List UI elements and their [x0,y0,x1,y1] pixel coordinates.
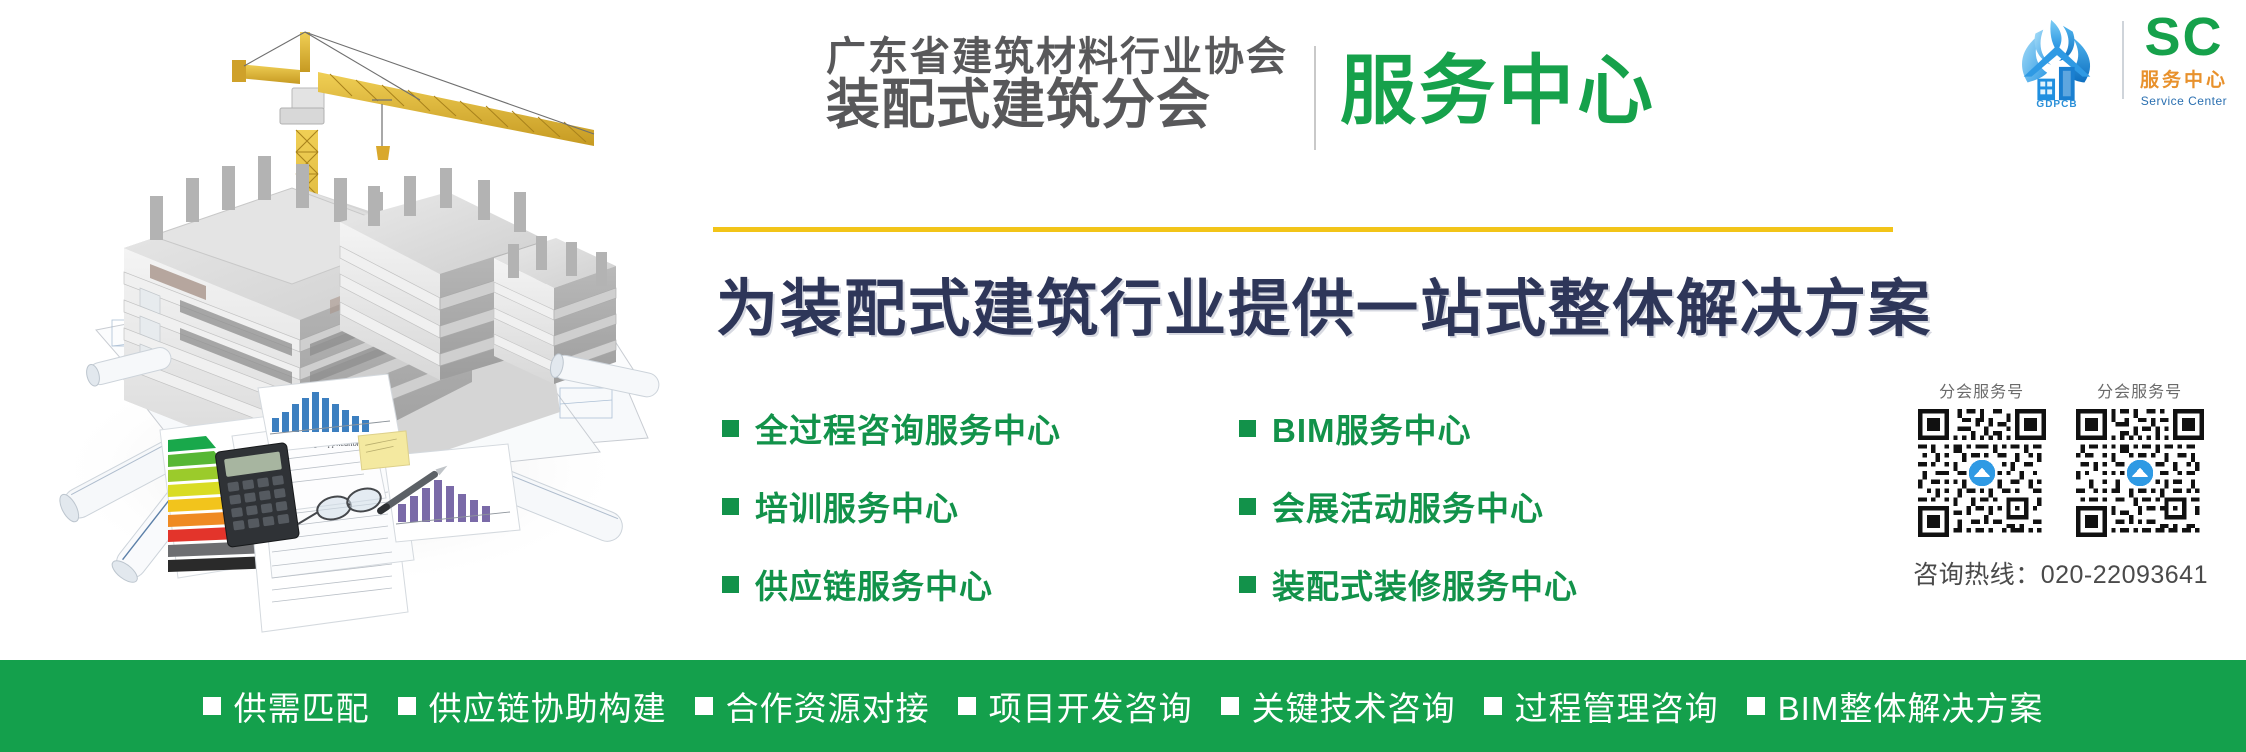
service-list-right: BIM服务中心 会展活动服务中心 装配式装修服务中心 [1239,404,1578,608]
sticky-note [358,431,409,470]
header-title-block: 广东省建筑材料行业协会 装配式建筑分会 服务中心 [826,38,1656,150]
service-center-heading: 服务中心 [1340,54,1656,130]
capability-label: 关键技术咨询 [1252,682,1456,730]
logo-divider [2122,21,2124,99]
title-divider [1314,46,1316,150]
capability-label: BIM整体解决方案 [1778,682,2044,730]
construction-illustration: Mortgage Application Mortgage Applicatio… [0,0,660,660]
calculator [215,442,300,547]
service-item-label: BIM服务中心 [1272,404,1472,452]
bullet-square-icon [1484,697,1502,715]
crane-hook [372,100,392,146]
capability-item-key-technology-consulting[interactable]: 关键技术咨询 [1207,682,1470,730]
hotline-text: 咨询热线：020-22093641 [1913,555,2208,591]
bottom-capability-bar: 供需匹配 供应链协助构建 合作资源对接 项目开发咨询 关键技术咨询 过程管理咨询… [0,660,2246,752]
capability-label: 供应链协助构建 [429,682,667,730]
bullet-square-icon [722,498,739,515]
service-item-label: 全过程咨询服务中心 [755,404,1061,452]
association-name-line2: 装配式建筑分会 [826,79,1288,132]
service-list-left: 全过程咨询服务中心 培训服务中心 供应链服务中心 [722,404,1061,608]
capability-item-bim-total-solution[interactable]: BIM整体解决方案 [1733,682,2058,730]
gold-divider-rule [713,227,1893,232]
logo-wordmark: SC 服务中心 Service Center [2140,12,2228,108]
bullet-square-icon [1747,697,1765,715]
capability-item-supply-chain-build[interactable]: 供应链协助构建 [384,682,681,730]
bullet-square-icon [1221,697,1239,715]
qr-code-image-2[interactable] [2076,409,2204,537]
bullet-square-icon [1239,576,1256,593]
bullet-square-icon [722,576,739,593]
qr-code-row: 分会服务号 [1918,378,2204,537]
service-item-training[interactable]: 培训服务中心 [722,482,1061,530]
capability-item-process-management-consulting[interactable]: 过程管理咨询 [1470,682,1733,730]
service-item-label: 会展活动服务中心 [1272,482,1544,530]
organization-logo[interactable]: GDPCB SC 服务中心 Service Center [2008,12,2228,108]
logo-english-label: Service Center [2141,94,2227,108]
bullet-square-icon [203,697,221,715]
capability-label: 供需匹配 [234,682,370,730]
logo-chinese-label: 服务中心 [2140,65,2228,92]
capability-label: 过程管理咨询 [1515,682,1719,730]
service-item-prefab-decoration[interactable]: 装配式装修服务中心 [1239,560,1578,608]
qr-code-entry-1[interactable]: 分会服务号 [1918,378,2046,537]
service-item-supply-chain[interactable]: 供应链服务中心 [722,560,1061,608]
bullet-square-icon [1239,498,1256,515]
capability-item-supply-demand-matching[interactable]: 供需匹配 [189,682,384,730]
qr-code-image-1[interactable] [1918,409,2046,537]
association-name: 广东省建筑材料行业协会 装配式建筑分会 [826,38,1288,132]
service-center-lists: 全过程咨询服务中心 培训服务中心 供应链服务中心 BIM服务中心 会展活动服务中… [722,404,1578,608]
page-subtitle: 为装配式建筑行业提供一站式整体解决方案 [716,258,1932,348]
capability-label: 项目开发咨询 [989,682,1193,730]
service-item-bim[interactable]: BIM服务中心 [1239,404,1578,452]
qr-caption: 分会服务号 [1939,378,2024,402]
gdpcb-flame-house-icon: GDPCB [2008,12,2106,108]
service-item-exhibition-events[interactable]: 会展活动服务中心 [1239,482,1578,530]
capability-item-partner-resources[interactable]: 合作资源对接 [681,682,944,730]
qr-caption: 分会服务号 [2097,378,2182,402]
association-name-line1: 广东省建筑材料行业协会 [826,38,1288,77]
bullet-square-icon [722,420,739,437]
capability-label: 合作资源对接 [726,682,930,730]
logo-sc-abbr: SC [2144,12,2223,63]
logo-mark-abbreviation: GDPCB [2008,99,2106,110]
service-item-label: 供应链服务中心 [755,560,993,608]
bullet-square-icon [958,697,976,715]
capability-item-project-development-consulting[interactable]: 项目开发咨询 [944,682,1207,730]
bullet-square-icon [1239,420,1256,437]
promo-banner: Mortgage Application Mortgage Applicatio… [0,0,2246,752]
bullet-square-icon [695,697,713,715]
service-item-full-process-consulting[interactable]: 全过程咨询服务中心 [722,404,1061,452]
bullet-square-icon [398,697,416,715]
qr-code-entry-2[interactable]: 分会服务号 [2076,378,2204,537]
qr-contact-block: 分会服务号 [1913,378,2208,591]
service-item-label: 装配式装修服务中心 [1272,560,1578,608]
service-item-label: 培训服务中心 [755,482,959,530]
